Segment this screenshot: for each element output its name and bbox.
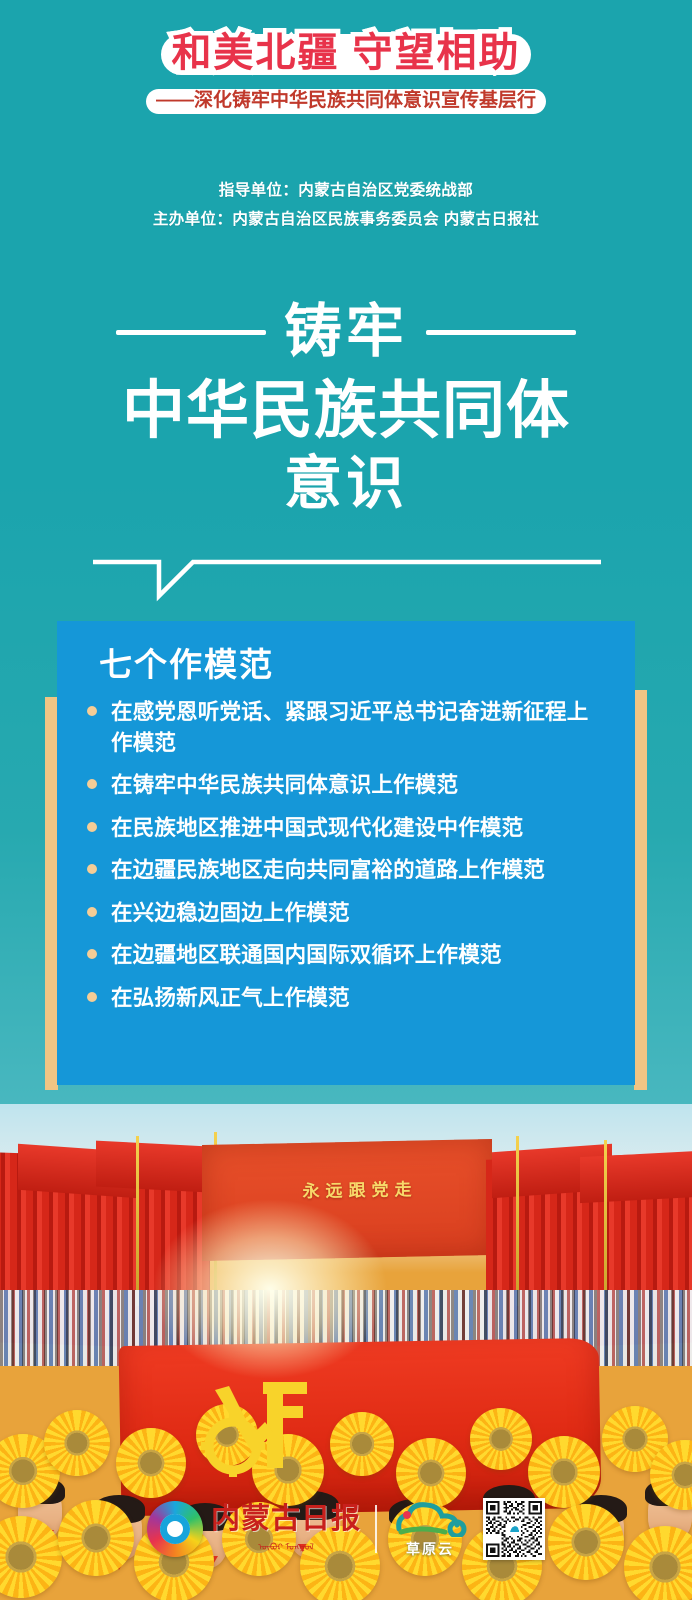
newspaper-name-block: 内蒙古日报 ᠥᠪᠥᠷ ᠮᠣᠩᠭᠤᠯ <box>211 1505 361 1553</box>
list-item-text: 在兴边稳边固边上作模范 <box>111 901 350 925</box>
sunflower-icon <box>330 1412 394 1476</box>
newspaper-name-mn: ᠥᠪᠥᠷ ᠮᠣᠩᠭᠤᠯ <box>258 1537 314 1553</box>
footer-logo-bar: 内蒙古日报 ᠥᠪᠥᠷ ᠮᠣᠩᠭᠤᠯ 草原云 <box>0 1486 692 1572</box>
flag-pole-left-a <box>136 1136 139 1306</box>
list-item: 在感党恩听党话、紧跟习近平总书记奋进新征程上作模范 <box>81 691 607 764</box>
logo-divider <box>375 1505 377 1553</box>
main-heading-block: 铸牢 中华民族共同体 意识 <box>0 296 692 519</box>
inner-mongolia-daily-logo: 内蒙古日报 ᠥᠪᠥᠷ ᠮᠣᠩᠭᠤᠯ <box>147 1501 361 1557</box>
organizers-block: 指导单位：内蒙古自治区党委统战部 主办单位：内蒙古自治区民族事务委员会 内蒙古日… <box>0 176 692 235</box>
poster-root: 和美北疆 守望相助 ——深化铸牢中华民族共同体意识宣传基层行 指导单位：内蒙古自… <box>0 0 692 1600</box>
rally-photo: 永远跟党走 <box>0 1104 692 1600</box>
red-flag-top-right-b <box>580 1151 692 1203</box>
list-item: 在边疆地区联通国内国际双循环上作模范 <box>81 934 607 977</box>
cloud-app-name: 草原云 <box>406 1539 454 1559</box>
list-item-text: 在民族地区推进中国式现代化建设中作模范 <box>111 816 523 840</box>
panel-title: 七个作模范 <box>99 647 635 683</box>
sub-title: ——深化铸牢中华民族共同体意识宣传基层行 <box>142 86 550 117</box>
list-item-text: 在边疆民族地区走向共同富裕的道路上作模范 <box>111 858 545 882</box>
spiral-logo-icon <box>147 1501 203 1557</box>
heading-notch-divider <box>93 556 601 604</box>
stage-banner-text: 永远跟党走 <box>280 1175 440 1203</box>
main-title-ribbon: 和美北疆 守望相助 <box>153 28 538 81</box>
heading-row-1: 铸牢 <box>0 296 692 368</box>
list-item: 在兴边稳边固边上作模范 <box>81 892 607 935</box>
gold-accent-bar-right <box>634 690 647 1090</box>
sunflower-icon <box>470 1408 532 1470</box>
flag-pole-right-b <box>604 1140 607 1310</box>
main-title: 和美北疆 守望相助 <box>153 28 538 81</box>
list-item-text: 在边疆地区联通国内国际双循环上作模范 <box>111 943 502 967</box>
bullet-dot-icon <box>87 822 97 832</box>
newspaper-name-cn: 内蒙古日报 <box>211 1505 361 1534</box>
list-item: 在铸牢中华民族共同体意识上作模范 <box>81 764 607 807</box>
list-item-text: 在感党恩听党话、紧跟习近平总书记奋进新征程上作模范 <box>111 700 588 755</box>
bullet-dot-icon <box>87 992 97 1002</box>
qr-code[interactable] <box>483 1498 545 1560</box>
bullet-dot-icon <box>87 706 97 716</box>
bullet-dot-icon <box>87 907 97 917</box>
caoyuan-cloud-logo: 草原云 <box>391 1499 469 1559</box>
bullet-dot-icon <box>87 779 97 789</box>
panel-item-list: 在感党恩听党话、紧跟习近平总书记奋进新征程上作模范 在铸牢中华民族共同体意识上作… <box>81 691 607 1019</box>
flag-pole-right-a <box>516 1136 519 1306</box>
heading-line-2: 中华民族共同体 <box>0 374 692 448</box>
heading-line-3: 意识 <box>0 450 692 518</box>
bullet-dot-icon <box>87 949 97 959</box>
cloud-icon <box>391 1499 469 1537</box>
list-item-text: 在铸牢中华民族共同体意识上作模范 <box>111 773 458 797</box>
host-unit-line: 主办单位：内蒙古自治区民族事务委员会 内蒙古日报社 <box>0 205 692 234</box>
list-item-text: 在弘扬新风正气上作模范 <box>111 986 350 1010</box>
heading-rule-right <box>426 330 576 335</box>
sunflower-icon <box>44 1410 110 1476</box>
list-item: 在边疆民族地区走向共同富裕的道路上作模范 <box>81 849 607 892</box>
header-block: 和美北疆 守望相助 ——深化铸牢中华民族共同体意识宣传基层行 <box>0 28 692 117</box>
list-item: 在弘扬新风正气上作模范 <box>81 977 607 1020</box>
qr-code-image <box>486 1501 542 1557</box>
guidance-unit-line: 指导单位：内蒙古自治区党委统战部 <box>0 176 692 205</box>
seven-models-panel: 七个作模范 在感党恩听党话、紧跟习近平总书记奋进新征程上作模范 在铸牢中华民族共… <box>57 621 635 1085</box>
sub-title-ribbon: ——深化铸牢中华民族共同体意识宣传基层行 <box>142 86 550 117</box>
heading-rule-left <box>116 330 266 335</box>
list-item: 在民族地区推进中国式现代化建设中作模范 <box>81 807 607 850</box>
party-emblem-icon <box>195 1372 315 1477</box>
heading-line-1: 铸牢 <box>284 303 408 361</box>
bullet-dot-icon <box>87 864 97 874</box>
